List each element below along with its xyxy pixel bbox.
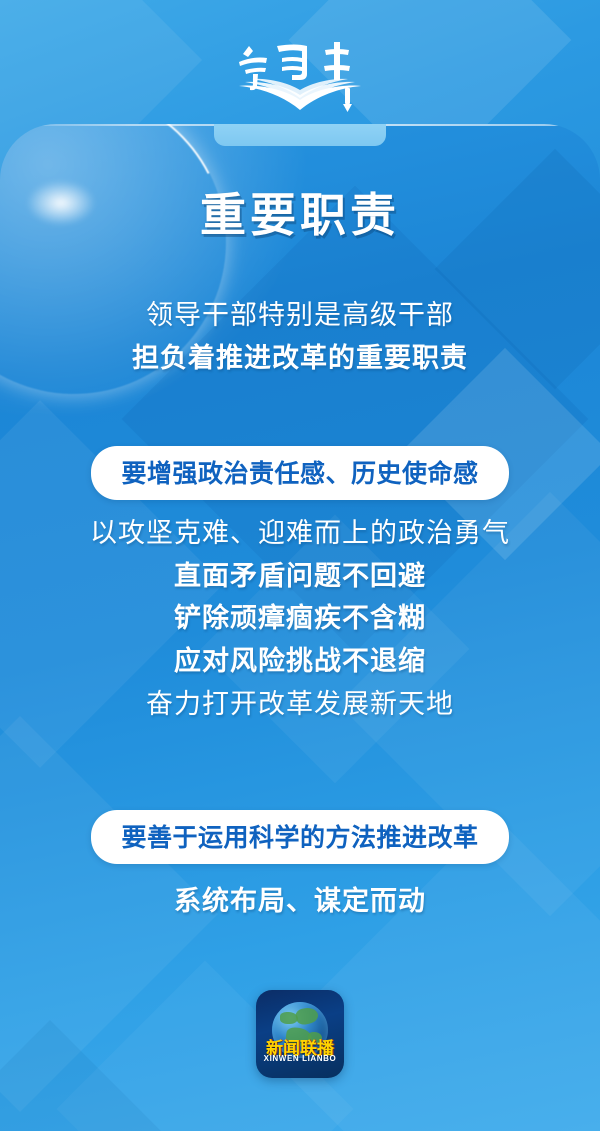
section-list-2: 系统布局、谋定而动: [0, 880, 600, 923]
list1-line-2: 直面矛盾问题不回避: [0, 555, 600, 598]
pill-label-1: 要增强政治责任感、历史使命感: [91, 446, 508, 500]
poster-root: 学习卡 重要职责 领导干部特别是高级干部 担负着推进改革的重要职责 要增: [0, 0, 600, 1131]
globe-landmass: [295, 1006, 320, 1026]
intro-line-2: 担负着推进改革的重要职责: [0, 337, 600, 380]
pill-label-2: 要善于运用科学的方法推进改革: [91, 810, 508, 864]
open-book-icon: [225, 24, 375, 116]
page-title: 重要职责: [0, 179, 600, 245]
intro-line-1: 领导干部特别是高级干部: [0, 294, 600, 337]
list2-line-1: 系统布局、谋定而动: [0, 880, 600, 923]
section-heading-1: 要增强政治责任感、历史使命感: [0, 446, 600, 500]
list1-line-4: 应对风险挑战不退缩: [0, 640, 600, 683]
footer-logo: 新闻联播 XINWEN LIANBO: [256, 990, 344, 1078]
study-card-logo: 学习卡: [225, 24, 375, 116]
footer-logo-en: XINWEN LIANBO: [256, 1054, 344, 1063]
section-list-1: 以攻坚克难、迎难而上的政治勇气 直面矛盾问题不回避 铲除顽瘴痼疾不含糊 应对风险…: [0, 512, 600, 725]
header-logo: 学习卡: [0, 22, 600, 118]
section-heading-2: 要善于运用科学的方法推进改革: [0, 810, 600, 864]
main-content: 重要职责 领导干部特别是高级干部 担负着推进改革的重要职责 要增强政治责任感、历…: [0, 124, 600, 1131]
list1-line-5: 奋力打开改革发展新天地: [0, 683, 600, 726]
intro-block: 领导干部特别是高级干部 担负着推进改革的重要职责: [0, 294, 600, 379]
list1-line-3: 铲除顽瘴痼疾不含糊: [0, 597, 600, 640]
card-notch-tab: [214, 124, 386, 146]
list1-line-1: 以攻坚克难、迎难而上的政治勇气: [0, 512, 600, 555]
